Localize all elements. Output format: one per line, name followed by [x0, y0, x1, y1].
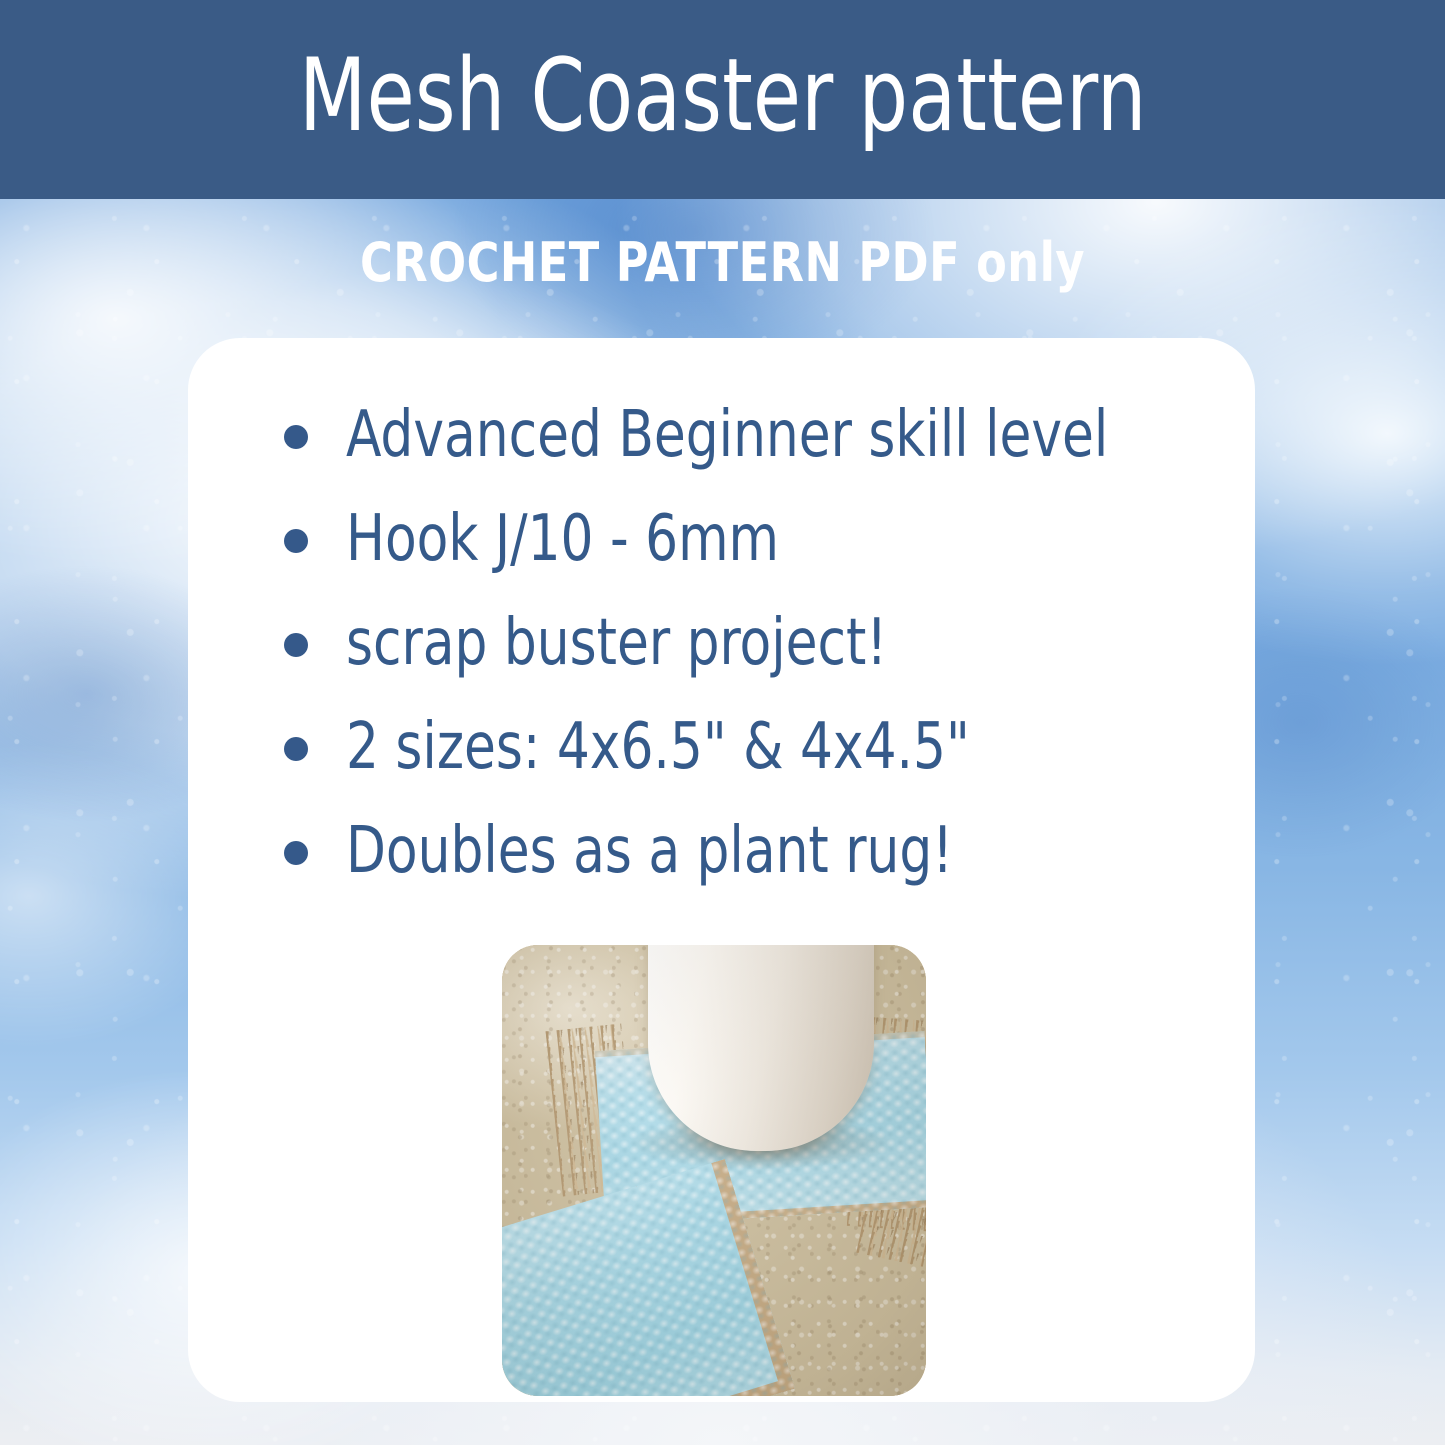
product-photo — [502, 945, 926, 1396]
content-card: Advanced Beginner skill level Hook J/10 … — [188, 338, 1255, 1402]
bullet-label: Doubles as a plant rug! — [346, 816, 953, 888]
feature-bullet-list: Advanced Beginner skill level Hook J/10 … — [284, 400, 1204, 920]
list-item: scrap buster project! — [284, 608, 1204, 680]
bullet-dot-icon — [284, 529, 308, 553]
list-item: 2 sizes: 4x6.5" & 4x4.5" — [284, 712, 1204, 784]
bullet-dot-icon — [284, 737, 308, 761]
page-title: Mesh Coaster pattern — [299, 45, 1147, 154]
bullet-label: Advanced Beginner skill level — [346, 400, 1108, 472]
list-item: Doubles as a plant rug! — [284, 816, 1204, 888]
bullet-label: Hook J/10 - 6mm — [346, 504, 779, 576]
list-item: Hook J/10 - 6mm — [284, 504, 1204, 576]
photo-vignette — [502, 945, 926, 1396]
bullet-dot-icon — [284, 633, 308, 657]
bullet-dot-icon — [284, 425, 308, 449]
header-band: Mesh Coaster pattern — [0, 0, 1445, 199]
list-item: Advanced Beginner skill level — [284, 400, 1204, 472]
bullet-label: 2 sizes: 4x6.5" & 4x4.5" — [346, 712, 970, 784]
subtitle-text: CROCHET PATTERN PDF only — [58, 233, 1387, 292]
bullet-dot-icon — [284, 841, 308, 865]
bullet-label: scrap buster project! — [346, 608, 887, 680]
poster-canvas: Mesh Coaster pattern CROCHET PATTERN PDF… — [0, 0, 1445, 1445]
